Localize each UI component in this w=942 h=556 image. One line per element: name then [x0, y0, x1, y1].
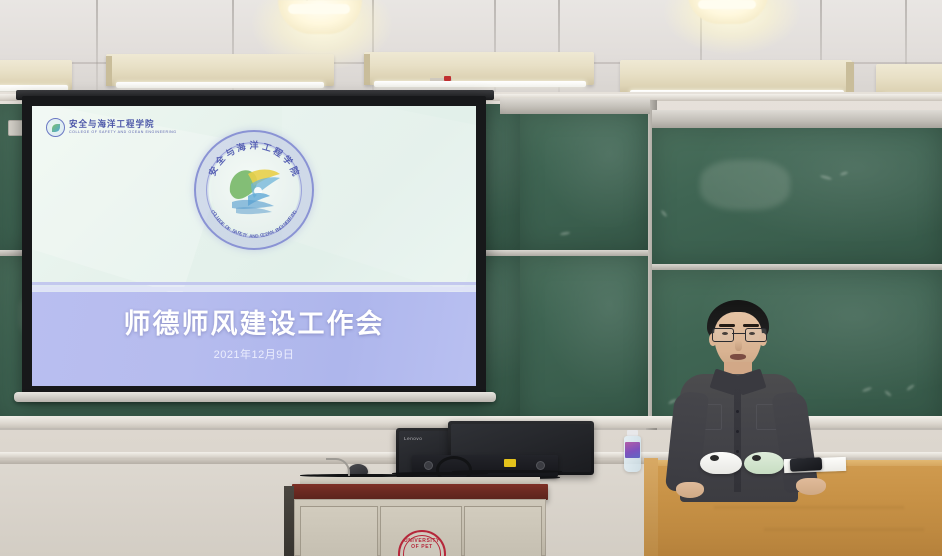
podium-panel-left: [300, 506, 378, 556]
chalkboard-frame-top-mid: [500, 98, 650, 114]
face-mask-white: [700, 452, 742, 474]
lens-left: [712, 328, 734, 342]
amp-knob-icon: [536, 461, 545, 470]
amp-badge-icon: [504, 459, 516, 467]
mobile-phone: [790, 457, 823, 472]
podium-top-trim: [292, 484, 548, 500]
mouth: [730, 354, 746, 360]
chalkboard-frame-top-right: [652, 110, 942, 128]
shirt-button: [736, 450, 739, 453]
podium-side-panel: [284, 486, 294, 556]
seal-text: UNIVERSITY OF PET: [400, 538, 444, 550]
screen-bottom-bar: [14, 392, 496, 402]
emblem-arc-char: 洋: [249, 139, 258, 152]
eyebrow-left: [719, 324, 735, 327]
college-logo-en-text: COLLEGE OF SAFETY AND OCEAN ENGINEERING: [69, 131, 177, 135]
college-emblem: 安全与海洋工程学院 COLLEGE OF SAFETY AND OCEAN EN…: [194, 130, 314, 250]
eyebrow-right: [743, 324, 759, 327]
college-logo-cn-text: 安全与海洋工程学院: [69, 120, 177, 129]
podium-panel-right: [464, 506, 542, 556]
projection-screen-frame: 安全与海洋工程学院 COLLEGE OF SAFETY AND OCEAN EN…: [22, 96, 486, 396]
monitor-brand-label: Lenovo: [404, 436, 422, 441]
amp-knob-icon: [424, 461, 433, 470]
leaf-icon: [52, 124, 60, 132]
chalkboard-middle-lower: [520, 256, 648, 422]
projected-slide: 安全与海洋工程学院 COLLEGE OF SAFETY AND OCEAN EN…: [32, 106, 476, 386]
pendant-lamp-left-tube: [288, 4, 350, 14]
lens-right: [745, 328, 767, 342]
emblem-artwork-icon: [218, 158, 290, 222]
batten-end-cap: [106, 56, 112, 86]
mask-ear-loop-hole: [752, 455, 761, 461]
light-tube-3: [374, 81, 586, 87]
shirt-button: [736, 430, 739, 433]
shirt-button: [736, 410, 739, 413]
light-tube-2: [116, 82, 324, 88]
classroom-photo: 安全与海洋工程学院 COLLEGE OF SAFETY AND OCEAN EN…: [0, 0, 942, 556]
chalkboard-right-upper: [652, 126, 942, 266]
batten-end-cap: [846, 62, 854, 94]
emblem-arc-char: D: [255, 233, 259, 238]
slide-date: 2021年12月9日: [32, 346, 476, 362]
light-batten-4: [620, 60, 852, 94]
face-mask-green: [744, 452, 784, 474]
nose: [735, 340, 742, 351]
chalkboard-middle-upper: [520, 112, 648, 252]
water-bottle-label: [625, 442, 640, 458]
mask-ear-loop-hole: [710, 455, 719, 461]
shirt-placket: [734, 382, 741, 492]
slide-title: 师德师风建设工作会: [32, 302, 476, 341]
hand-right: [796, 478, 826, 495]
batten-end-cap: [364, 54, 370, 85]
desk-side-post: [644, 458, 658, 556]
pendant-lamp-right-tube: [698, 0, 756, 9]
college-logo-mark-icon: [46, 118, 65, 137]
hand-left: [676, 482, 704, 498]
ceiling-sensor: [444, 76, 451, 81]
slide-divider-stripe-2: [32, 287, 476, 291]
slide-divider-stripe-1: [32, 282, 476, 285]
college-logo-small: 安全与海洋工程学院 COLLEGE OF SAFETY AND OCEAN EN…: [46, 118, 177, 137]
glasses-bridge: [732, 333, 745, 334]
